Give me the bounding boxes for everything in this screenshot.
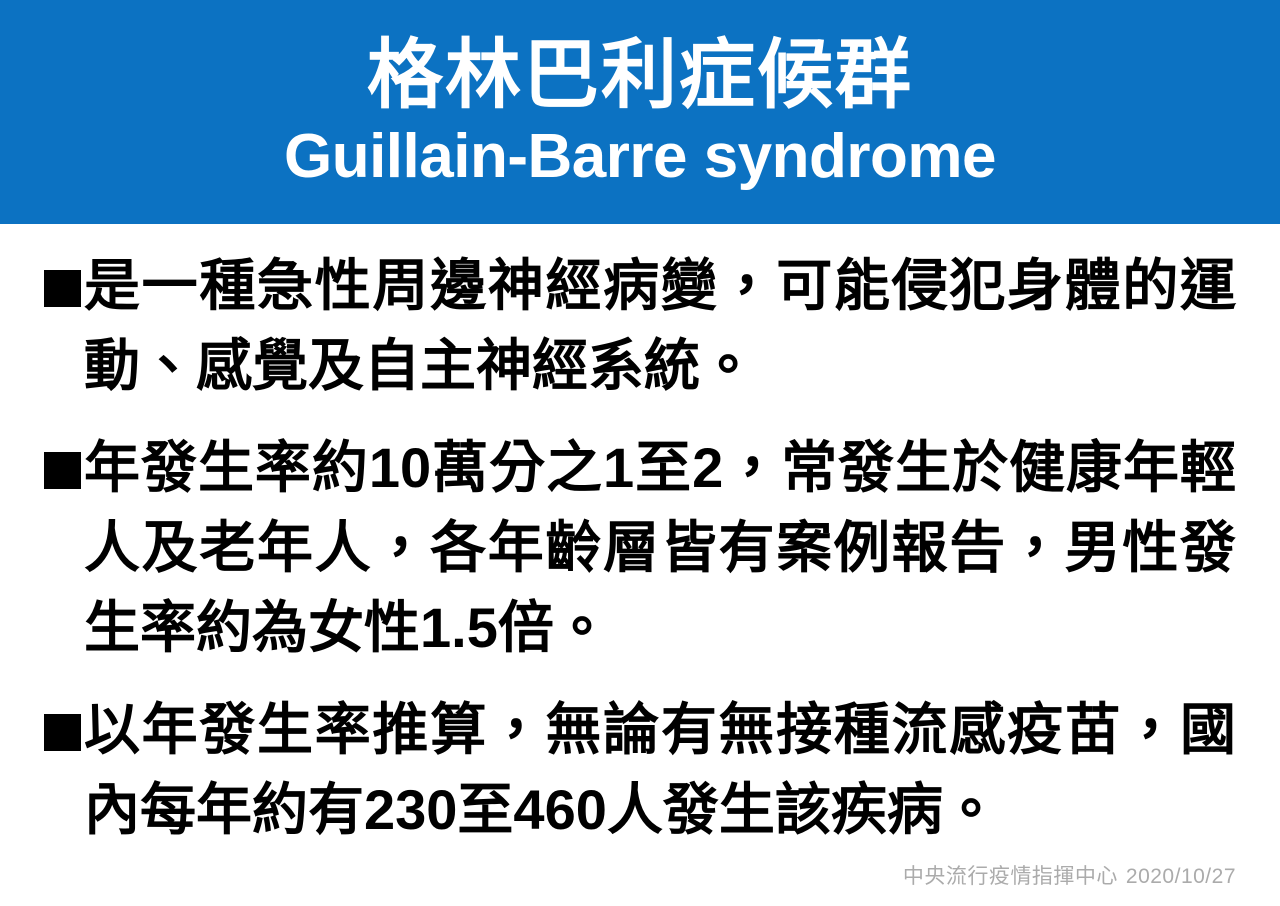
list-item: 是一種急性周邊神經病變，可能侵犯身體的運動、感覺及自主神經系統。 [44,246,1236,406]
list-item: 以年發生率推算，無論有無接種流感疫苗，國內每年約有230至460人發生該疾病。 [44,690,1236,850]
list-item-text: 年發生率約10萬分之1至2，常發生於健康年輕人及老年人，各年齡層皆有案例報告，男… [84,428,1236,668]
list-item-text: 以年發生率推算，無論有無接種流感疫苗，國內每年約有230至460人發生該疾病。 [84,690,1236,850]
footer-date: 2020/10/27 [1126,865,1236,888]
page-title-chinese: 格林巴利症候群 [367,33,913,118]
list-item-text: 是一種急性周邊神經病變，可能侵犯身體的運動、感覺及自主神經系統。 [84,246,1236,406]
square-bullet-icon [44,714,81,751]
square-bullet-icon [44,452,81,489]
header-banner: 格林巴利症候群 Guillain-Barre syndrome [0,0,1280,224]
square-bullet-icon [44,270,81,307]
footer-organization: 中央流行疫情指揮中心 [903,865,1118,888]
list-item: 年發生率約10萬分之1至2，常發生於健康年輕人及老年人，各年齡層皆有案例報告，男… [44,428,1236,668]
slide-root: 格林巴利症候群 Guillain-Barre syndrome 是一種急性周邊神… [0,0,1280,906]
footer-credit: 中央流行疫情指揮中心2020/10/27 [903,860,1236,890]
bullet-list: 是一種急性周邊神經病變，可能侵犯身體的運動、感覺及自主神經系統。 年發生率約10… [0,224,1280,844]
page-title-english: Guillain-Barre syndrome [284,122,996,191]
